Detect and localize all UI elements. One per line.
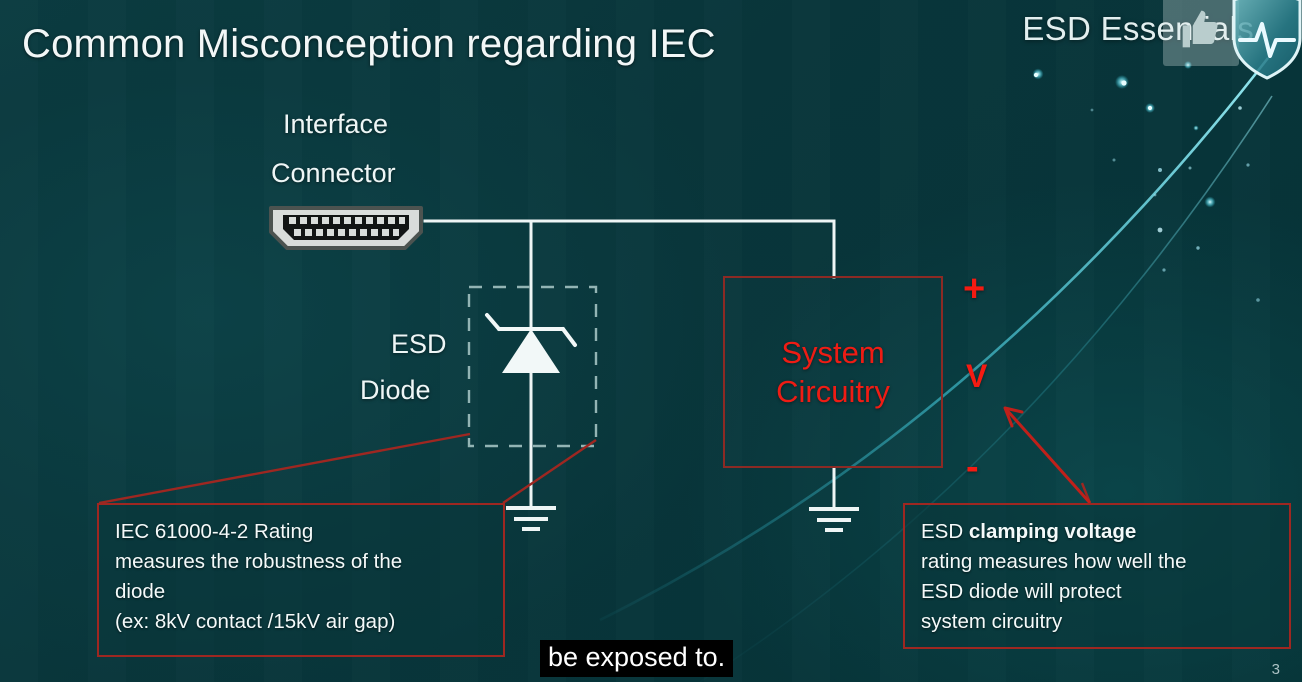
callout-right-line1-bold: clamping voltage — [969, 520, 1136, 543]
esd-diode-dashed-boundary — [469, 287, 596, 446]
zener-diode-icon — [487, 315, 575, 373]
callout-right-line4: system circuitry — [921, 607, 1275, 637]
callout-right-line2: rating measures how well the — [921, 547, 1275, 577]
page-number: 3 — [1272, 661, 1280, 678]
clamping-voltage-arrow — [1005, 408, 1090, 503]
leader-line-right-a — [503, 440, 596, 503]
page-title: Common Misconception regarding IEC — [22, 22, 716, 67]
callout-left-line1: IEC 61000-4-2 Rating — [115, 517, 489, 547]
callout-clamping-voltage: ESD clamping voltage rating measures how… — [903, 503, 1291, 649]
callout-left-line3: diode — [115, 577, 489, 607]
subtitle-caption: be exposed to. — [540, 640, 733, 677]
leader-line-left-a — [99, 434, 470, 503]
shield-pulse-logo-icon — [1232, 0, 1302, 86]
polarity-minus-label: - — [966, 446, 979, 489]
system-circuitry-box: System Circuitry — [723, 276, 943, 468]
interface-connector-label-line1: Interface — [283, 109, 388, 140]
callout-left-line4: (ex: 8kV contact /15kV air gap) — [115, 607, 489, 637]
ground-symbol-icon-system — [809, 509, 859, 530]
callout-right-line3: ESD diode will protect — [921, 577, 1275, 607]
callout-right-line1: ESD clamping voltage — [921, 517, 1275, 547]
polarity-voltage-label: V — [966, 358, 987, 395]
callout-iec-rating: IEC 61000-4-2 Rating measures the robust… — [97, 503, 505, 657]
system-circuitry-line1: System — [781, 333, 884, 372]
hdmi-connector-icon — [267, 202, 425, 252]
esd-diode-label-line2: Diode — [360, 375, 431, 406]
leader-line-right-callout — [1082, 483, 1090, 503]
esd-diode-label-line1: ESD — [391, 329, 447, 360]
callout-left-line2: measures the robustness of the — [115, 547, 489, 577]
interface-connector-label-line2: Connector — [271, 158, 396, 189]
system-circuitry-line2: Circuitry — [776, 372, 890, 411]
callout-right-line1-normal: ESD — [921, 520, 969, 543]
ground-symbol-icon-diode — [506, 508, 556, 529]
polarity-plus-label: + — [963, 268, 985, 311]
thumbs-up-icon[interactable] — [1163, 0, 1239, 66]
slide-canvas: Common Misconception regarding IEC ESD E… — [0, 0, 1302, 682]
